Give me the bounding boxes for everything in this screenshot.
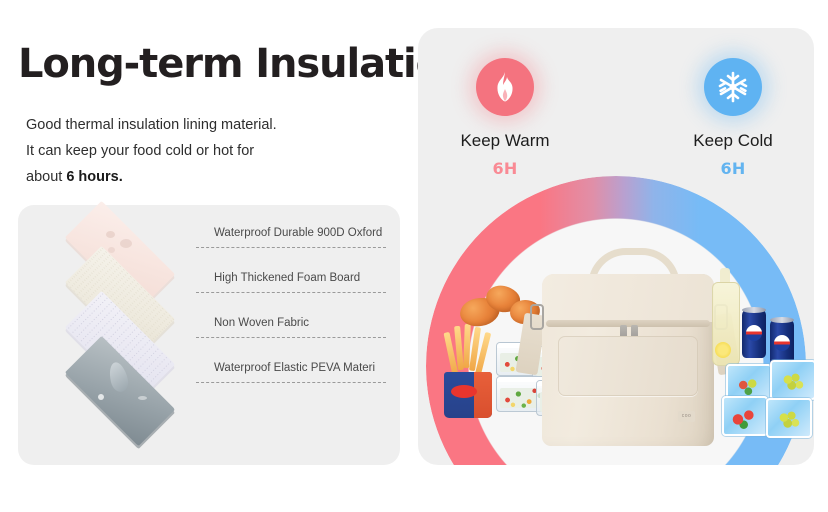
ice-pack-fruit [777,369,809,393]
ice-pack [766,398,812,438]
keep-cold-label: Keep Cold [658,131,808,151]
front-pocket [558,336,698,396]
droplet-icon [98,394,104,400]
left-column: Long-term Insulation Good thermal insula… [0,0,414,512]
keep-warm-label: Keep Warm [430,131,580,151]
description-line-3: about 6 hours. [26,164,396,190]
droplet-icon [106,231,115,238]
bag-lid [542,274,714,322]
infographic-page: Long-term Insulation Good thermal insula… [0,0,828,512]
ice-pack-fruit [733,373,765,397]
layer-row: Waterproof Elastic PEVA Materi [18,348,400,412]
keep-warm-badge [476,58,534,116]
flame-icon [490,71,520,103]
droplet-icon [120,239,132,248]
description-line-2: It can keep your food cold or hot for [26,138,396,164]
snowflake-icon [716,70,750,104]
layer-label: High Thickened Foam Board [214,272,360,284]
leader-line [196,247,386,248]
bottle-neck [720,268,730,282]
layer-label: Waterproof Elastic PEVA Materi [214,362,375,374]
fries-box [444,372,492,418]
ice-pack-fruit [729,405,761,429]
lemon-slice [715,342,731,358]
material-layers-card: Waterproof Durable 900D Oxford High Thic… [18,205,400,465]
zipper-track [546,320,710,327]
layer-label: Non Woven Fabric [214,317,309,329]
ice-pack-fruit [773,407,805,431]
droplet-icon [108,247,115,253]
ice-pack [770,360,814,400]
description-line-1: Good thermal insulation lining material. [26,112,396,138]
description-text: Good thermal insulation lining material.… [26,112,396,190]
ice-pack [722,396,768,436]
strap-clip-icon [530,304,544,330]
duration-highlight: 6 hours. [66,169,122,185]
layer-plate-peva [46,354,194,428]
description-line-3-prefix: about [26,169,66,185]
can-top [742,307,766,313]
page-title: Long-term Insulation [18,44,410,84]
keep-cold-badge [704,58,762,116]
product-scene: coo [418,224,814,465]
droplet-icon [138,396,147,400]
insulated-lunch-bag: coo [542,270,714,446]
leader-line [196,292,386,293]
brand-tag: coo [678,411,695,422]
leader-line [196,337,386,338]
layer-label: Waterproof Durable 900D Oxford [214,227,382,239]
soda-can [742,310,766,358]
leader-line [196,382,386,383]
can-top [770,317,794,323]
product-panel: Keep Warm 6H Keep Cold 6H [418,28,814,465]
